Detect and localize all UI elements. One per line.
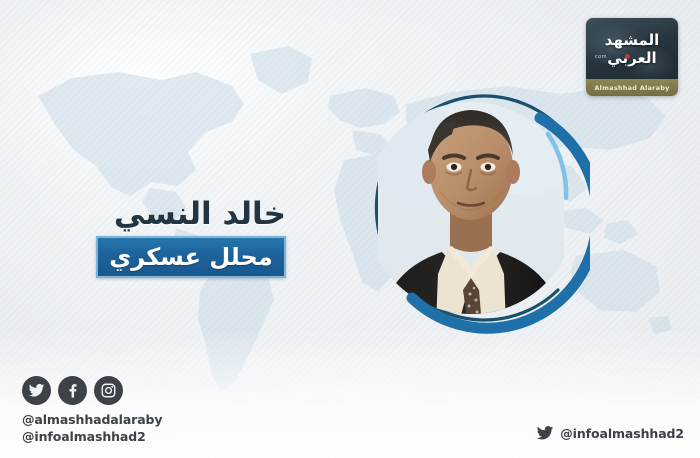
guest-name: خالد النسي [0,196,286,232]
instagram-icon[interactable] [94,376,123,405]
guest-role-banner: محلل عسكري [96,236,286,278]
guest-role-label: محلل عسكري [109,244,272,270]
social-icon-row [22,376,162,405]
social-block: @almashhadalaraby @infoalmashhad2 [22,376,162,445]
twitter-icon[interactable] [22,376,51,405]
footer-handle-text: @infoalmashhad2 [560,426,684,441]
logo-latin-bar: Almashhad Alaraby [586,79,678,96]
facebook-icon[interactable] [58,376,87,405]
channel-logo: المشهد العربي com Almashhad Alaraby [586,18,678,96]
handle-primary: @almashhadalaraby [22,411,162,428]
logo-arabic-text: المشهد العربي [586,32,678,67]
portrait-ring-blue [352,82,590,334]
logo-arabic-line1: المشهد [605,31,660,49]
logo-latin-name: Almashhad Alaraby [594,84,669,92]
handle-secondary: @infoalmashhad2 [22,428,162,445]
news-guest-card: المشهد العربي com Almashhad Alaraby [0,0,700,458]
logo-red-dot [625,54,630,59]
logo-com-text: com [595,54,607,60]
footer-twitter-handle: @infoalmashhad2 [536,424,684,442]
social-handles: @almashhadalaraby @infoalmashhad2 [22,411,162,445]
guest-portrait [352,82,590,334]
twitter-bird-icon [536,424,554,442]
